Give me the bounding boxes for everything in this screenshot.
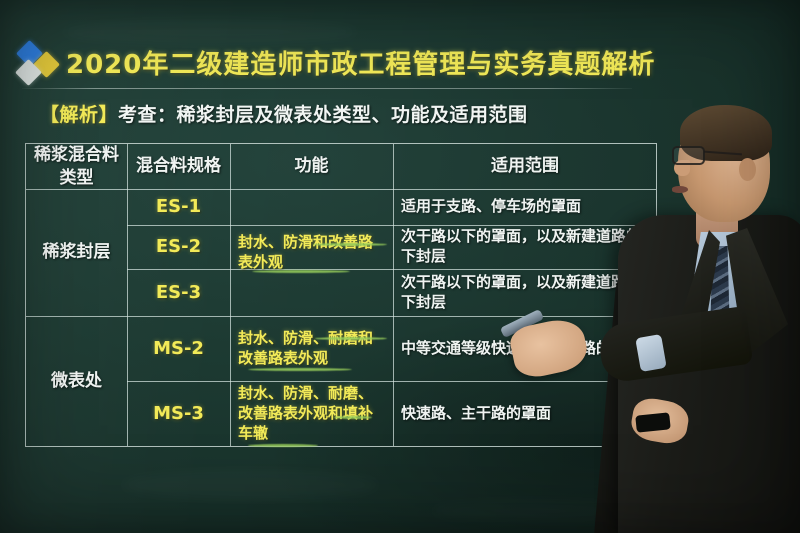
spec-cell-ms2: MS-2: [127, 316, 230, 381]
title-divider: [22, 88, 632, 89]
header-cell-spec: 混合料规格: [127, 144, 230, 189]
instructor-glasses: [672, 146, 705, 165]
spec-cell-es3: ES-3: [127, 269, 230, 316]
presentation-remote: [635, 412, 671, 432]
slurry-seal-table: 稀浆混合料类型 混合料规格 功能 适用范围 稀浆封层 微表处 ES-1 ES-2…: [25, 143, 657, 447]
header-cell-function: 功能: [230, 144, 393, 189]
instructor-shirt-cuff: [635, 334, 667, 372]
chalk-dust: [120, 470, 380, 500]
function-cell-ms2: 封水、防滑、耐磨和改善路表外观: [230, 316, 393, 381]
instructor-ear: [739, 158, 756, 181]
chalk-underline-4: [248, 368, 352, 371]
subtitle-text: 考查：稀浆封层及微表处类型、功能及适用范围: [118, 104, 528, 126]
three-diamonds-logo: [12, 42, 68, 84]
spec-cell-ms3: MS-3: [127, 381, 230, 447]
subtitle-bracket: 【解析】: [40, 104, 118, 126]
function-cell-ms3: 封水、防滑、耐磨、改善路表外观和填补车辙: [230, 381, 393, 447]
instructor-mouth: [672, 186, 688, 193]
chalk-dust: [60, 20, 360, 44]
header-cell-category: 稀浆混合料类型: [26, 144, 127, 189]
page-title: 2020年二级建造师市政工程管理与实务真题解析: [66, 44, 655, 81]
chalk-underline-3: [315, 337, 387, 340]
spec-cell-es2: ES-2: [127, 225, 230, 269]
chalk-underline-5: [334, 416, 372, 419]
chalk-underline-1: [313, 243, 387, 246]
category-cell-slurry-seal: 稀浆封层: [26, 189, 127, 316]
function-cell-slurry-seal: 封水、防滑和改善路表外观: [230, 189, 393, 316]
spec-cell-es1: ES-1: [127, 189, 230, 225]
category-cell-microsurfacing: 微表处: [26, 316, 127, 447]
instructor-presenter: [600, 0, 800, 533]
subtitle: 【解析】考查：稀浆封层及微表处类型、功能及适用范围: [40, 100, 528, 127]
chalk-underline-2: [252, 270, 350, 273]
chalk-underline-6: [248, 444, 318, 447]
